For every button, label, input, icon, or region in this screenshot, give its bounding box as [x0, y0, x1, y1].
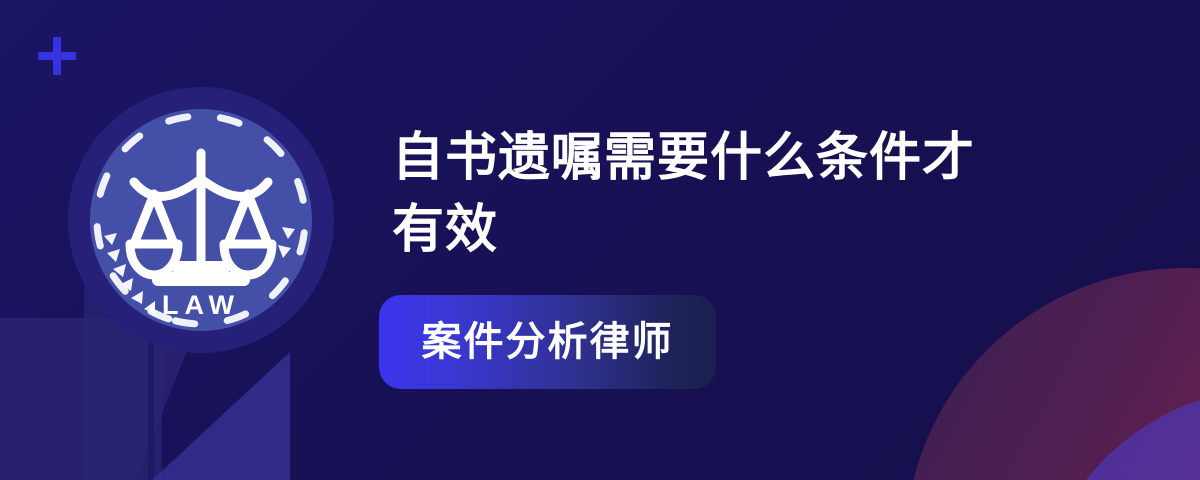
badge-label: LAW [162, 290, 240, 320]
page-title-line-2: 有效 [392, 195, 1012, 267]
decorative-shape-triangle [150, 352, 290, 480]
page-title-line-1: 自书遗嘱需要什么条件才 [392, 123, 1012, 195]
plus-icon [38, 37, 76, 75]
page-title: 自书遗嘱需要什么条件才 有效 [392, 123, 1012, 267]
scales-of-justice-icon: LAW [90, 109, 312, 331]
law-article-banner: LAW 自书遗嘱需要什么条件才 有效 案件分析律师 [0, 0, 1200, 480]
law-badge: LAW [68, 87, 334, 353]
case-analysis-lawyer-button[interactable]: 案件分析律师 [379, 295, 716, 389]
